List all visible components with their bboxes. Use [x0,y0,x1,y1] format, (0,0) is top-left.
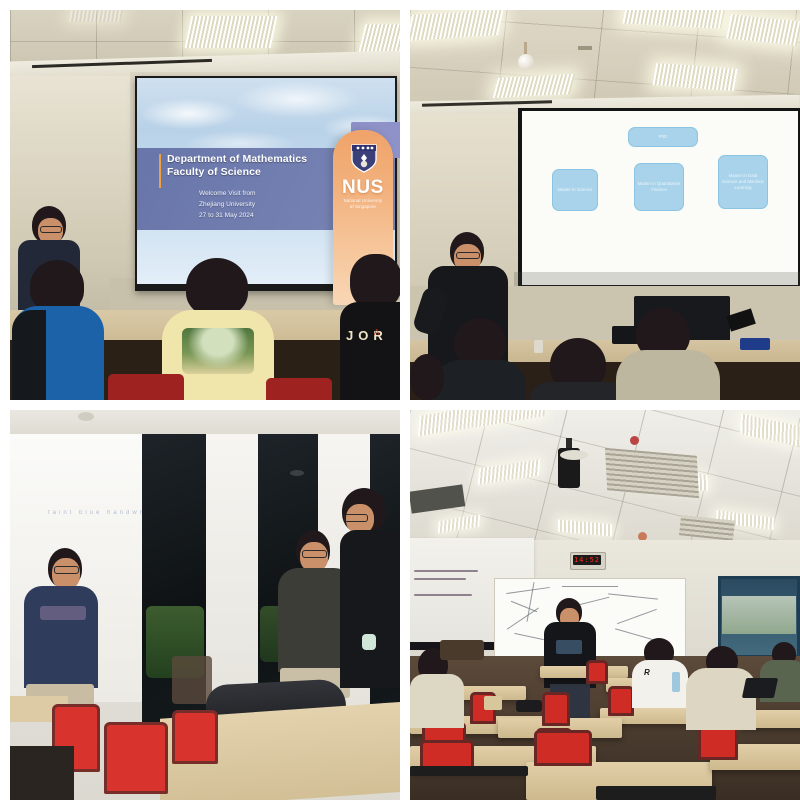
collage-panel-top-left[interactable]: Department of Mathematics Faculty of Sci… [10,10,400,400]
torso [410,674,464,728]
whiteboard-ink [562,586,618,587]
head [186,258,248,316]
slide-accent-bar [159,154,161,188]
pencil-case [484,696,502,710]
chair [608,686,634,716]
shoulder [12,310,46,400]
head [30,260,84,312]
slide-subtitle-line2: Zhejiang University [199,200,256,211]
ceiling-spotlight-icon [78,412,94,421]
chair [104,722,168,794]
ceiling-light-icon [185,16,278,48]
nus-logo-text: NUS [337,178,389,197]
collage-panel-top-right[interactable]: PhD Master in Science Master in Quantita… [410,10,800,400]
diagram-node-phd: PhD [628,127,698,147]
head [410,354,444,400]
slide-text-line [414,570,478,572]
ceiling [10,410,400,436]
desk-edge [596,786,716,800]
photo-collage: Department of Mathematics Faculty of Sci… [0,0,800,800]
ceiling-speaker [560,450,588,460]
water-bottle [672,672,680,692]
shirt-lettering: JOR [346,328,400,343]
shirt-print [556,640,582,654]
distant-person [172,656,212,704]
torso [340,302,400,400]
ceiling-light-icon [69,10,123,22]
glasses-icon [40,226,62,233]
chair [698,726,738,760]
slide-title-line1: Department of Mathematics [167,153,307,166]
diagram-node-master-science: Master in Science [552,169,598,211]
slide-subtitle-line3: 27 to 31 May 2024 [199,211,256,222]
sprinkler-icon [518,54,534,70]
bag [516,700,542,712]
desk [540,666,628,678]
chair [586,660,608,684]
glasses-icon [344,514,368,522]
chair [542,692,570,726]
clock-display: 14:52 [573,555,601,565]
projection-screen: PhD Master in Science Master in Quantita… [522,111,798,285]
nus-crest-icon [351,144,377,173]
glasses-icon [54,566,79,574]
slide-text-line [414,578,466,580]
chair [266,378,332,400]
smoke-detector-icon [630,436,639,445]
desk-edge [410,766,528,776]
slide-title-line2: Faculty of Science [167,166,307,179]
shirt-graphic [182,328,254,374]
torso [616,350,720,400]
cup [534,340,543,353]
torso [24,586,98,688]
chair [172,710,218,764]
chair [534,730,592,766]
nus-logo-subtitle: National University of Singapore [333,198,393,210]
slide-subtitle-line1: Welcome Visit from [199,189,256,200]
window-daylight [722,596,796,634]
shirt-print [40,606,86,620]
diagram-node-master-dsml: Master in Data Science and Machine Learn… [718,155,768,209]
floor-shadow [10,746,74,800]
air-vent [605,448,699,498]
projection-screen: Department of Mathematics Faculty of Sci… [137,78,395,284]
torso [340,530,400,688]
shirt-accent-letter: A [374,328,382,338]
torso [434,360,526,400]
torso [530,382,626,400]
ceiling-ring [290,470,304,476]
slide-text-line [414,594,472,596]
glasses-icon [456,252,480,259]
collage-panel-bottom-right[interactable]: 14:52 [410,410,800,800]
blue-folder [740,338,770,350]
ceiling-mount [578,46,592,50]
chair [108,374,184,400]
glasses-icon [302,550,327,558]
collage-panel-bottom-left[interactable]: faint blue handwriting [10,410,400,800]
slide-title: Department of Mathematics Faculty of Sci… [167,153,307,179]
hoodie-lettering: R [644,668,674,678]
slide-subtitle: Welcome Visit from Zhejiang University 2… [199,189,256,221]
wristband [362,634,376,650]
laptop [742,678,778,698]
diagram-node-master-quant-finance: Master in Quantitative Finance [634,163,684,211]
nus-logo-subtitle-line2: of Singapore [333,204,393,210]
torso [686,668,756,730]
equipment [440,640,484,660]
ceiling-light-icon [359,24,400,52]
